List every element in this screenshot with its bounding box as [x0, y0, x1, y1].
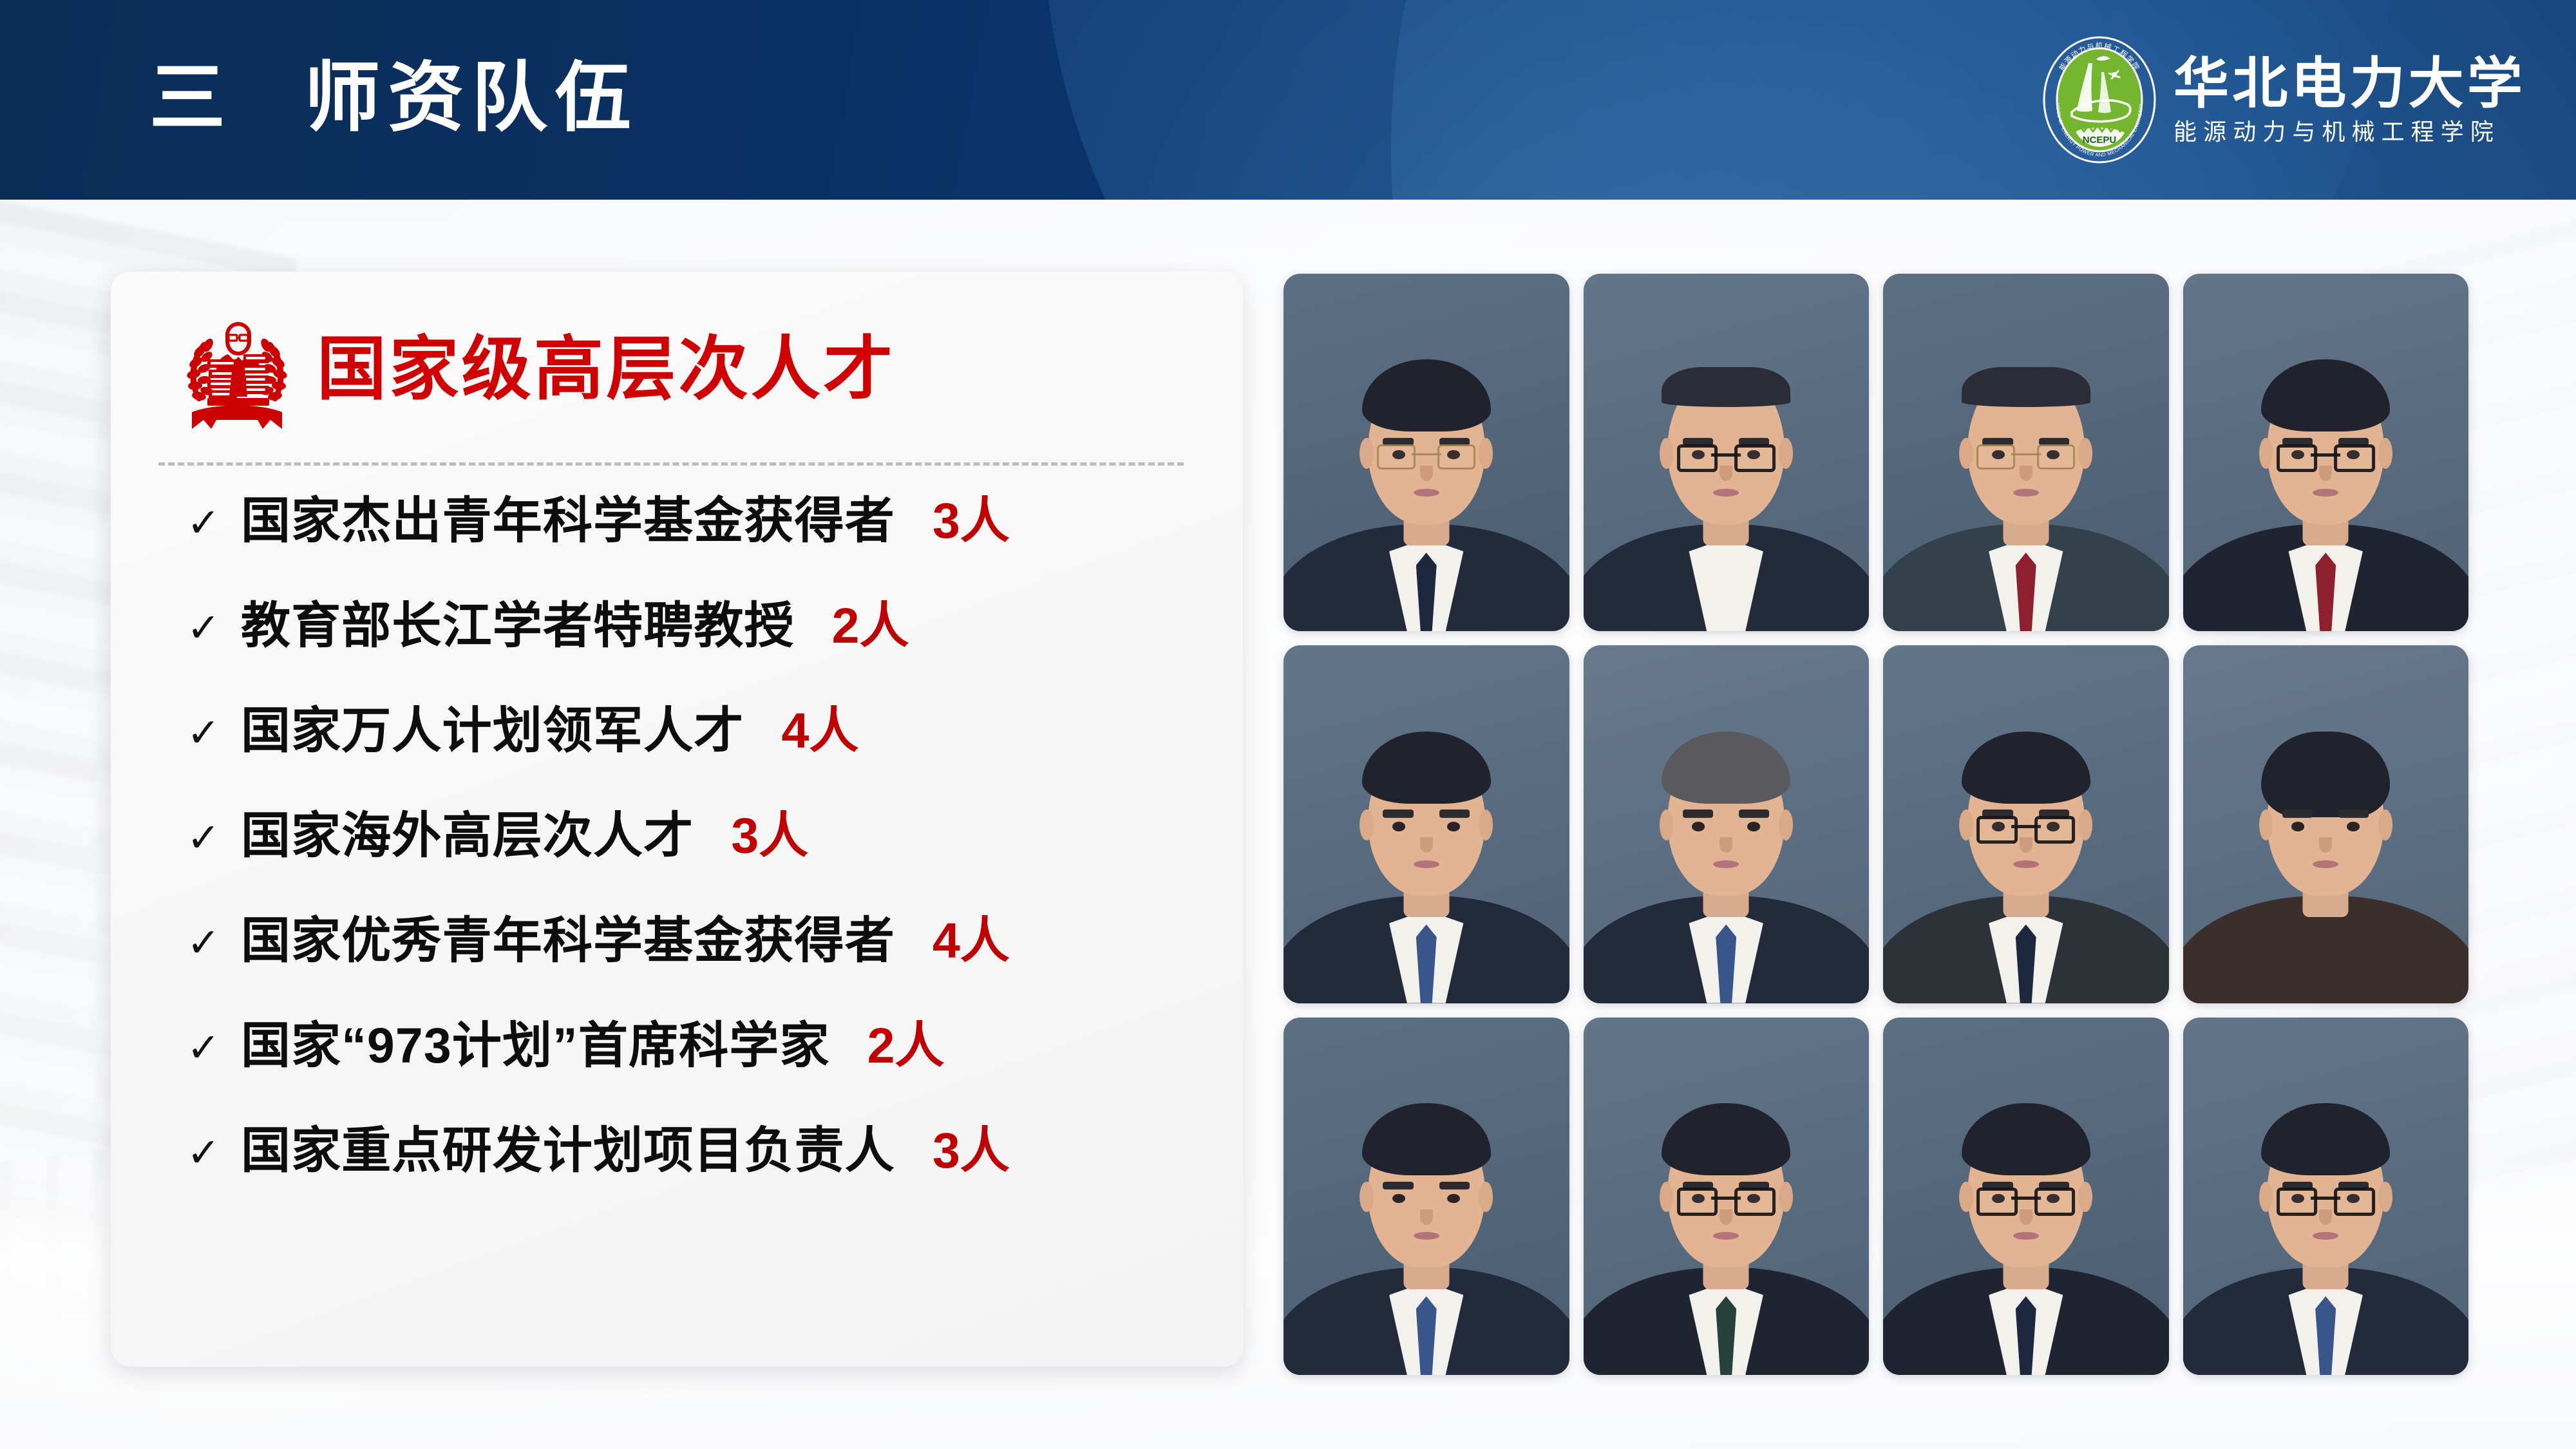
portrait-eye-left: [1992, 450, 2005, 459]
list-item-label: 国家杰出青年科学基金获得者: [241, 497, 895, 546]
portrait-brow-left: [1982, 810, 2012, 817]
portrait-ear-left: [1359, 810, 1374, 840]
portrait-mouth: [2013, 860, 2039, 868]
check-icon: ✓: [187, 819, 220, 858]
portrait-eye-right: [1747, 1194, 1760, 1203]
portrait-ear-right: [1479, 810, 1493, 840]
faculty-portrait[interactable]: [1584, 1018, 1870, 1375]
portrait-nose: [2319, 466, 2332, 481]
portrait-ear-right: [2079, 438, 2093, 469]
portrait-brow-left: [2282, 438, 2313, 446]
list-item[interactable]: ✓ 国家重点研发计划项目负责人 3人: [111, 1126, 1243, 1231]
university-name: 华北电力大学: [2173, 56, 2526, 111]
portrait-mouth: [2313, 860, 2338, 868]
portrait-brow-left: [1683, 1182, 1713, 1189]
list-item-label: 国家海外高层次人才: [241, 811, 694, 861]
portrait-head: [1667, 370, 1785, 524]
portrait-ear-right: [2079, 810, 2093, 840]
portrait-ear-left: [1959, 1182, 1973, 1213]
portrait-ear-left: [1959, 438, 1973, 469]
check-icon: ✓: [187, 609, 220, 649]
list-item-count: 4人: [782, 706, 859, 756]
portrait-eye-left: [1692, 450, 1705, 459]
portrait-ear-right: [2079, 1182, 2093, 1213]
portrait-ear-left: [1660, 1182, 1674, 1213]
portrait-eye-left: [1392, 1194, 1405, 1203]
portrait-eye-right: [1447, 822, 1460, 831]
faculty-portrait[interactable]: [1584, 274, 1870, 631]
portrait-brow-right: [2039, 810, 2069, 817]
portrait-brow-left: [1982, 438, 2012, 446]
list-item-count: 4人: [933, 916, 1010, 966]
portrait-eye-left: [2292, 822, 2305, 831]
portrait-brow-left: [1683, 438, 1713, 446]
portrait-eye-left: [1692, 1194, 1705, 1203]
portrait-brow-right: [2039, 1182, 2069, 1189]
card-header: 国家级高层次人才: [111, 272, 1243, 429]
portrait-brow-right: [2338, 1182, 2369, 1189]
portrait-brow-left: [1383, 810, 1413, 817]
portrait-eye-left: [2292, 1194, 2305, 1203]
check-icon: ✓: [187, 504, 220, 544]
list-item-count: 2人: [832, 601, 909, 651]
portrait-eye-right: [2047, 1194, 2060, 1203]
portrait-head: [1667, 1114, 1785, 1268]
portrait-brow-right: [2039, 438, 2069, 446]
portrait-hair: [1962, 732, 2090, 804]
portrait-mouth: [2313, 489, 2338, 497]
list-item[interactable]: ✓ 国家优秀青年科学基金获得者 4人: [111, 916, 1243, 1021]
section-number: 三: [149, 61, 227, 137]
portrait-ear-right: [2378, 438, 2392, 469]
portrait-ear-left: [1959, 810, 1973, 840]
check-icon: ✓: [187, 714, 220, 753]
portrait-ear-right: [1479, 438, 1493, 469]
list-item-count: 3人: [933, 497, 1010, 546]
talent-list: ✓ 国家杰出青年科学基金获得者 3人 ✓ 教育部长江学者特聘教授 2人 ✓ 国家…: [111, 466, 1243, 1231]
portrait-eye-right: [1747, 822, 1760, 831]
portrait-mouth: [1414, 1232, 1439, 1240]
portrait-eye-right: [1447, 1194, 1460, 1203]
list-item[interactable]: ✓ 国家杰出青年科学基金获得者 3人: [111, 497, 1243, 601]
portrait-brow-right: [1739, 810, 1769, 817]
portrait-eye-right: [1747, 450, 1760, 459]
portrait-brow-left: [1982, 1182, 2012, 1189]
portrait-head: [2267, 1114, 2384, 1268]
portrait-nose: [2020, 837, 2032, 853]
portrait-brow-right: [2338, 810, 2369, 817]
portrait-nose: [2020, 1209, 2032, 1225]
portrait-ear-left: [1359, 438, 1374, 469]
portrait-head: [1967, 370, 2085, 524]
portrait-head: [1368, 370, 1485, 524]
faculty-portrait[interactable]: [1283, 274, 1569, 631]
portrait-hair: [2261, 732, 2390, 818]
portrait-nose: [2319, 1209, 2332, 1225]
portrait-ear-right: [1779, 1182, 1793, 1213]
portrait-hair: [1662, 1103, 1790, 1175]
page-title: 师资队伍: [304, 61, 638, 137]
portrait-eye-right: [2347, 450, 2360, 459]
portrait-ear-left: [2259, 810, 2273, 840]
school-name: 能源动力与机械工程学院: [2173, 120, 2526, 144]
portrait-hair: [1362, 732, 1491, 804]
portrait-ear-right: [2378, 1182, 2392, 1213]
card-title: 国家级高层次人才: [317, 334, 896, 404]
portrait-nose: [2319, 837, 2332, 853]
portrait-ear-left: [1359, 1182, 1374, 1213]
faculty-portrait[interactable]: [2183, 1018, 2469, 1375]
faculty-portrait[interactable]: [2183, 645, 2469, 1003]
portrait-nose: [1420, 1209, 1433, 1225]
portrait-ear-left: [2259, 438, 2273, 469]
svg-text:NCEPU: NCEPU: [2083, 135, 2117, 146]
portrait-brow-left: [1383, 438, 1413, 446]
portrait-eye-left: [1992, 822, 2005, 831]
check-icon: ✓: [187, 923, 220, 963]
portrait-mouth: [1414, 489, 1439, 497]
portrait-eye-left: [1992, 1194, 2005, 1203]
portrait-eye-right: [2047, 450, 2060, 459]
portrait-head: [1368, 1114, 1485, 1268]
portrait-mouth: [1713, 860, 1739, 868]
university-logo-block: NCEPU 能源动力与机械工程学院 SCHOOL OF ENERGY POWER…: [2042, 36, 2526, 164]
portrait-hair: [1662, 367, 1790, 407]
portrait-mouth: [2013, 1232, 2039, 1240]
portrait-brow-right: [1439, 1182, 1470, 1189]
portrait-hair: [2261, 359, 2390, 431]
portrait-nose: [1719, 837, 1732, 853]
faculty-portrait[interactable]: [2183, 274, 2469, 631]
logo-wordmark: 华北电力大学 能源动力与机械工程学院: [2173, 56, 2526, 144]
portrait-head: [1368, 742, 1485, 896]
portrait-nose: [2020, 466, 2032, 481]
list-item[interactable]: ✓ 教育部长江学者特聘教授 2人: [111, 601, 1243, 706]
portrait-brow-left: [1383, 1182, 1413, 1189]
portrait-head: [2267, 742, 2384, 896]
slide-header-bar: 三 师资队伍: [0, 0, 2576, 200]
portrait-eye-left: [1692, 822, 1705, 831]
portrait-hair: [1362, 359, 1491, 431]
faculty-photo-grid: [1283, 274, 2468, 1375]
ncepu-seal-icon: NCEPU 能源动力与机械工程学院 SCHOOL OF ENERGY POWER…: [2042, 36, 2157, 164]
portrait-eye-right: [2047, 822, 2060, 831]
portrait-brow-right: [1739, 1182, 1769, 1189]
slide-root: 三 师资队伍: [0, 0, 2576, 1449]
portrait-head: [2267, 370, 2384, 524]
portrait-head: [1667, 742, 1785, 896]
portrait-mouth: [2313, 1232, 2338, 1240]
portrait-mouth: [1713, 1232, 1739, 1240]
national-talent-card: 国家级高层次人才 ✓ 国家杰出青年科学基金获得者 3人 ✓ 教育部长江学者特聘教…: [111, 272, 1243, 1367]
list-item-count: 2人: [867, 1021, 945, 1071]
portrait-head: [1967, 742, 2085, 896]
portrait-hair: [1662, 732, 1790, 804]
portrait-brow-right: [2338, 438, 2369, 446]
header-title-group: 三 师资队伍: [149, 61, 639, 137]
portrait-ear-left: [2259, 1182, 2273, 1213]
portrait-hair: [2261, 1103, 2390, 1175]
portrait-mouth: [1414, 860, 1439, 868]
portrait-eye-right: [2347, 1194, 2360, 1203]
portrait-ear-left: [1660, 810, 1674, 840]
portrait-ear-right: [1779, 438, 1793, 469]
portrait-brow-right: [1439, 438, 1470, 446]
scholar-laurel-emblem-icon: [180, 309, 294, 429]
list-item-label: 国家万人计划领军人才: [241, 706, 744, 756]
check-icon: ✓: [187, 1133, 220, 1173]
portrait-eye-left: [1392, 450, 1405, 459]
portrait-brow-left: [1683, 810, 1713, 817]
portrait-nose: [1719, 466, 1732, 481]
portrait-mouth: [2013, 489, 2039, 497]
portrait-hair: [1362, 1103, 1491, 1175]
portrait-eye-left: [1392, 822, 1405, 831]
list-item[interactable]: ✓ 国家“973计划”首席科学家 2人: [111, 1021, 1243, 1126]
faculty-portrait[interactable]: [1883, 645, 2169, 1003]
check-icon: ✓: [187, 1028, 220, 1068]
portrait-ear-right: [1479, 1182, 1493, 1213]
portrait-brow-right: [1739, 438, 1769, 446]
portrait-mouth: [1713, 489, 1739, 497]
faculty-portrait[interactable]: [1283, 1018, 1569, 1375]
list-item-count: 3人: [731, 811, 808, 861]
portrait-brow-left: [2282, 810, 2313, 817]
portrait-eye-right: [2347, 822, 2360, 831]
list-item[interactable]: ✓ 国家海外高层次人才 3人: [111, 811, 1243, 916]
list-item-label: 国家优秀青年科学基金获得者: [241, 916, 895, 966]
portrait-head: [1967, 1114, 2085, 1268]
faculty-portrait[interactable]: [1883, 1018, 2169, 1375]
portrait-ear-left: [1660, 438, 1674, 469]
list-item[interactable]: ✓ 国家万人计划领军人才 4人: [111, 706, 1243, 811]
faculty-portrait[interactable]: [1283, 645, 1569, 1003]
portrait-brow-left: [2282, 1182, 2313, 1189]
list-item-count: 3人: [933, 1126, 1010, 1176]
list-item-label: 国家“973计划”首席科学家: [241, 1021, 830, 1071]
portrait-nose: [1719, 1209, 1732, 1225]
portrait-hair: [1962, 1103, 2090, 1175]
list-item-label: 教育部长江学者特聘教授: [241, 601, 795, 651]
portrait-nose: [1420, 837, 1433, 853]
portrait-hair: [1962, 367, 2090, 407]
portrait-brow-right: [1439, 810, 1470, 817]
portrait-eye-left: [2292, 450, 2305, 459]
list-item-label: 国家重点研发计划项目负责人: [241, 1126, 895, 1176]
faculty-portrait[interactable]: [1883, 274, 2169, 631]
portrait-eye-right: [1447, 450, 1460, 459]
portrait-nose: [1420, 466, 1433, 481]
portrait-ear-right: [1779, 810, 1793, 840]
faculty-portrait[interactable]: [1584, 645, 1870, 1003]
portrait-ear-right: [2378, 810, 2392, 840]
